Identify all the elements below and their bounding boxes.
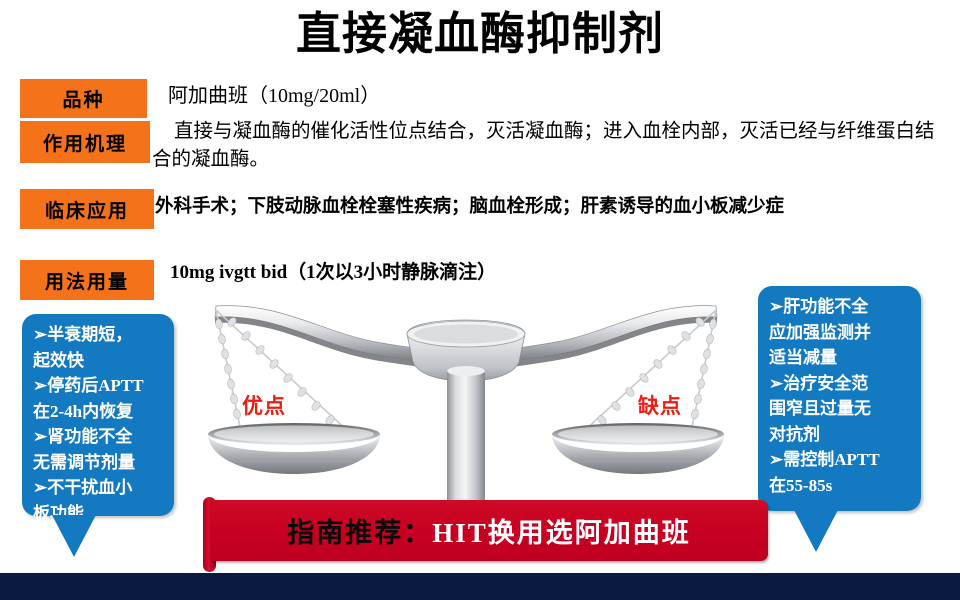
callout-advantages: ➢半衰期短， 起效快 ➢停药后APTT 在2-4h内恢复 ➢肾功能不全 无需调节… <box>22 314 174 516</box>
callout-line: ➢不干扰血小 <box>33 475 165 501</box>
text-mechanism: 直接与凝血酶的催化活性位点结合，灭活凝血酶；进入血栓内部，灭活已经与纤维蛋白结合… <box>152 118 952 174</box>
text-variety: 阿加曲班（10mg/20ml） <box>168 83 588 110</box>
callout-line: 在2-4h内恢复 <box>33 399 165 425</box>
recommendation-banner: 指南推荐：HIT换用选阿加曲班 <box>210 500 768 561</box>
callout-line: 应加强监测并 <box>769 320 912 346</box>
callout-line: 起效快 <box>33 348 165 374</box>
callout-line: ➢治疗安全范 <box>769 371 912 397</box>
label-tag-mechanism: 作用机理 <box>20 121 150 163</box>
callout-pointer-icon <box>52 515 96 557</box>
callout-line: 适当减量 <box>769 345 912 371</box>
label-tag-dosage: 用法用量 <box>20 260 154 300</box>
label-tag-clinical-use: 临床应用 <box>20 189 154 229</box>
callout-line: ➢需控制APTT <box>769 447 912 473</box>
callout-line: ➢肝功能不全 <box>769 294 912 320</box>
callout-line: 围窄且过量无 <box>769 396 912 422</box>
footer-bar <box>0 573 960 600</box>
callout-line: 无需调节剂量 <box>33 450 165 476</box>
pan-label-advantages: 优点 <box>242 390 286 420</box>
banner-lead-text: 指南推荐： <box>287 511 432 550</box>
callout-disadvantages: ➢肝功能不全 应加强监测并 适当减量 ➢治疗安全范 围窄且过量无 对抗剂 ➢需控… <box>758 286 921 511</box>
text-clinical-use: 外科手术；下肢动脉血栓栓塞性疾病；脑血栓形成；肝素诱导的血小板减少症 <box>155 194 955 221</box>
callout-line: 在55-85s <box>769 473 912 499</box>
pan-label-disadvantages: 缺点 <box>638 390 682 420</box>
callout-line: 对抗剂 <box>769 422 912 448</box>
text-dosage: 10mg ivgtt bid（1次以3小时静脉滴注） <box>170 259 630 286</box>
callout-pointer-icon <box>794 510 838 552</box>
label-tag-variety: 品种 <box>20 79 147 118</box>
banner-main-text: HIT换用选阿加曲班 <box>432 511 691 550</box>
page-title: 直接凝血酶抑制剂 <box>0 6 960 62</box>
callout-line: ➢停药后APTT <box>33 373 165 399</box>
callout-line: ➢半衰期短， <box>33 322 165 348</box>
recommendation-banner-text: 指南推荐：HIT换用选阿加曲班 <box>210 500 768 561</box>
slide-canvas: 直接凝血酶抑制剂 品种 阿加曲班（10mg/20ml） 作用机理 直接与凝血酶的… <box>0 0 960 600</box>
callout-line: ➢肾功能不全 <box>33 424 165 450</box>
